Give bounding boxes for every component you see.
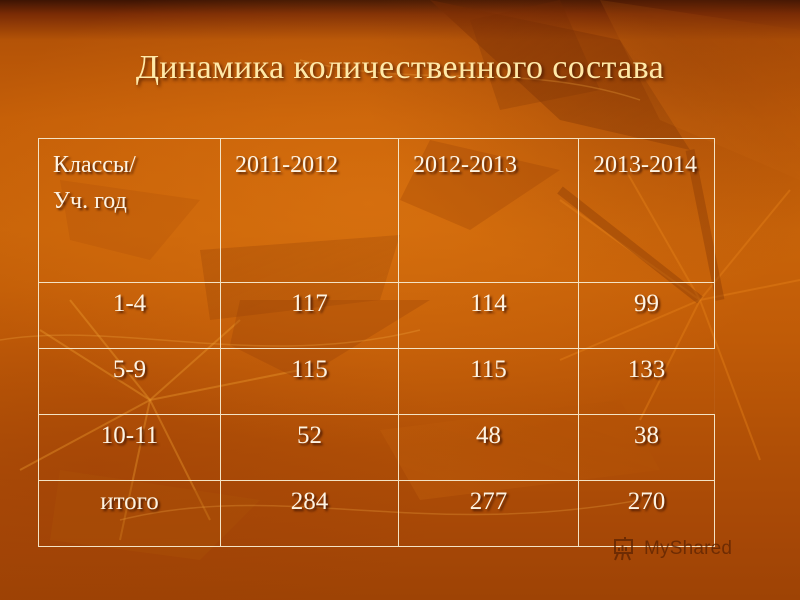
page-title: Динамика количественного состава bbox=[0, 48, 800, 88]
header-cell-year-2012-2013: 2012-2013 bbox=[399, 139, 579, 283]
row-label-10-11: 10-11 bbox=[39, 415, 221, 481]
cell-10-11-2011-2012: 52 bbox=[221, 415, 399, 481]
header-cell-corner: Классы/ Уч. год bbox=[39, 139, 221, 283]
table-row-total: итого 284 277 270 bbox=[39, 481, 715, 547]
cell-10-11-2012-2013: 48 bbox=[399, 415, 579, 481]
cell-5-9-2012-2013: 115 bbox=[399, 349, 579, 415]
row-label-5-9: 5-9 bbox=[39, 349, 221, 415]
table-row: 10-11 52 48 38 bbox=[39, 415, 715, 481]
header-cell-year-2011-2012: 2011-2012 bbox=[221, 139, 399, 283]
data-table-wrapper: Классы/ Уч. год 2011-2012 2012-2013 2013… bbox=[38, 138, 714, 547]
row-label-1-4: 1-4 bbox=[39, 283, 221, 349]
cell-1-4-2012-2013: 114 bbox=[399, 283, 579, 349]
data-table: Классы/ Уч. год 2011-2012 2012-2013 2013… bbox=[38, 138, 715, 547]
table-row: 5-9 115 115 133 bbox=[39, 349, 715, 415]
header-corner-line1: Классы/ bbox=[53, 147, 210, 183]
cell-1-4-2011-2012: 117 bbox=[221, 283, 399, 349]
cell-5-9-2013-2014: 133 bbox=[579, 349, 715, 415]
table-header-row: Классы/ Уч. год 2011-2012 2012-2013 2013… bbox=[39, 139, 715, 283]
cell-total-2013-2014: 270 bbox=[579, 481, 715, 547]
slide: Динамика количественного состава Классы/… bbox=[0, 0, 800, 600]
cell-1-4-2013-2014: 99 bbox=[579, 283, 715, 349]
cell-5-9-2011-2012: 115 bbox=[221, 349, 399, 415]
table-row: 1-4 117 114 99 bbox=[39, 283, 715, 349]
cell-total-2011-2012: 284 bbox=[221, 481, 399, 547]
cell-total-2012-2013: 277 bbox=[399, 481, 579, 547]
header-corner-line2: Уч. год bbox=[53, 183, 210, 219]
header-cell-year-2013-2014: 2013-2014 bbox=[579, 139, 715, 283]
cell-10-11-2013-2014: 38 bbox=[579, 415, 715, 481]
row-label-total: итого bbox=[39, 481, 221, 547]
